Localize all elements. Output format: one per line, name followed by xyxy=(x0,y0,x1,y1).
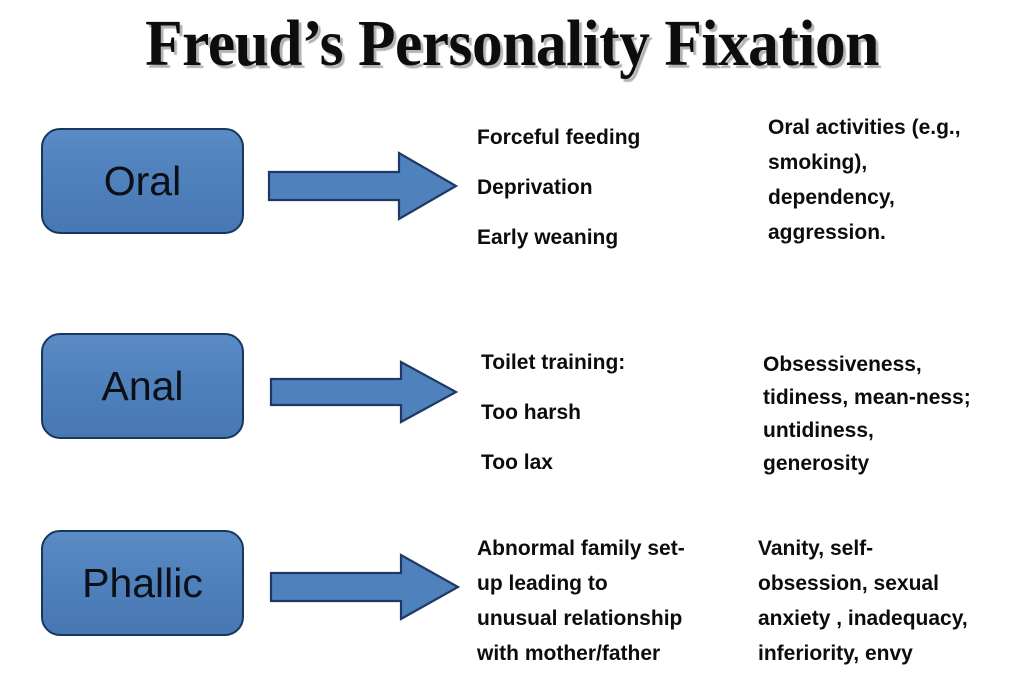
outcomes-anal: Obsessiveness, tidiness, mean-ness; unti… xyxy=(763,348,971,480)
causes-phallic: Abnormal family set- up leading to unusu… xyxy=(477,531,685,671)
page-title: Freud’s Personality Fixation xyxy=(36,6,988,82)
outcomes-oral: Oral activities (e.g., smoking), depende… xyxy=(768,110,961,250)
causes-anal: Toilet training: Too harsh Too lax xyxy=(481,338,625,488)
stage-box-oral[interactable]: Oral xyxy=(41,128,244,234)
right-arrow-oral xyxy=(266,148,460,224)
stage-label-oral: Oral xyxy=(104,159,181,203)
stage-box-phallic[interactable]: Phallic xyxy=(41,530,244,636)
stage-label-anal: Anal xyxy=(101,364,183,408)
diagram-canvas: Freud’s Personality Fixation Oral Forcef… xyxy=(0,0,1024,695)
right-arrow-anal xyxy=(268,358,460,426)
outcomes-phallic: Vanity, self- obsession, sexual anxiety … xyxy=(758,531,968,671)
causes-oral: Forceful feeding Deprivation Early weani… xyxy=(477,113,640,263)
stage-label-phallic: Phallic xyxy=(82,561,203,605)
stage-box-anal[interactable]: Anal xyxy=(41,333,244,439)
right-arrow-phallic xyxy=(268,550,462,624)
